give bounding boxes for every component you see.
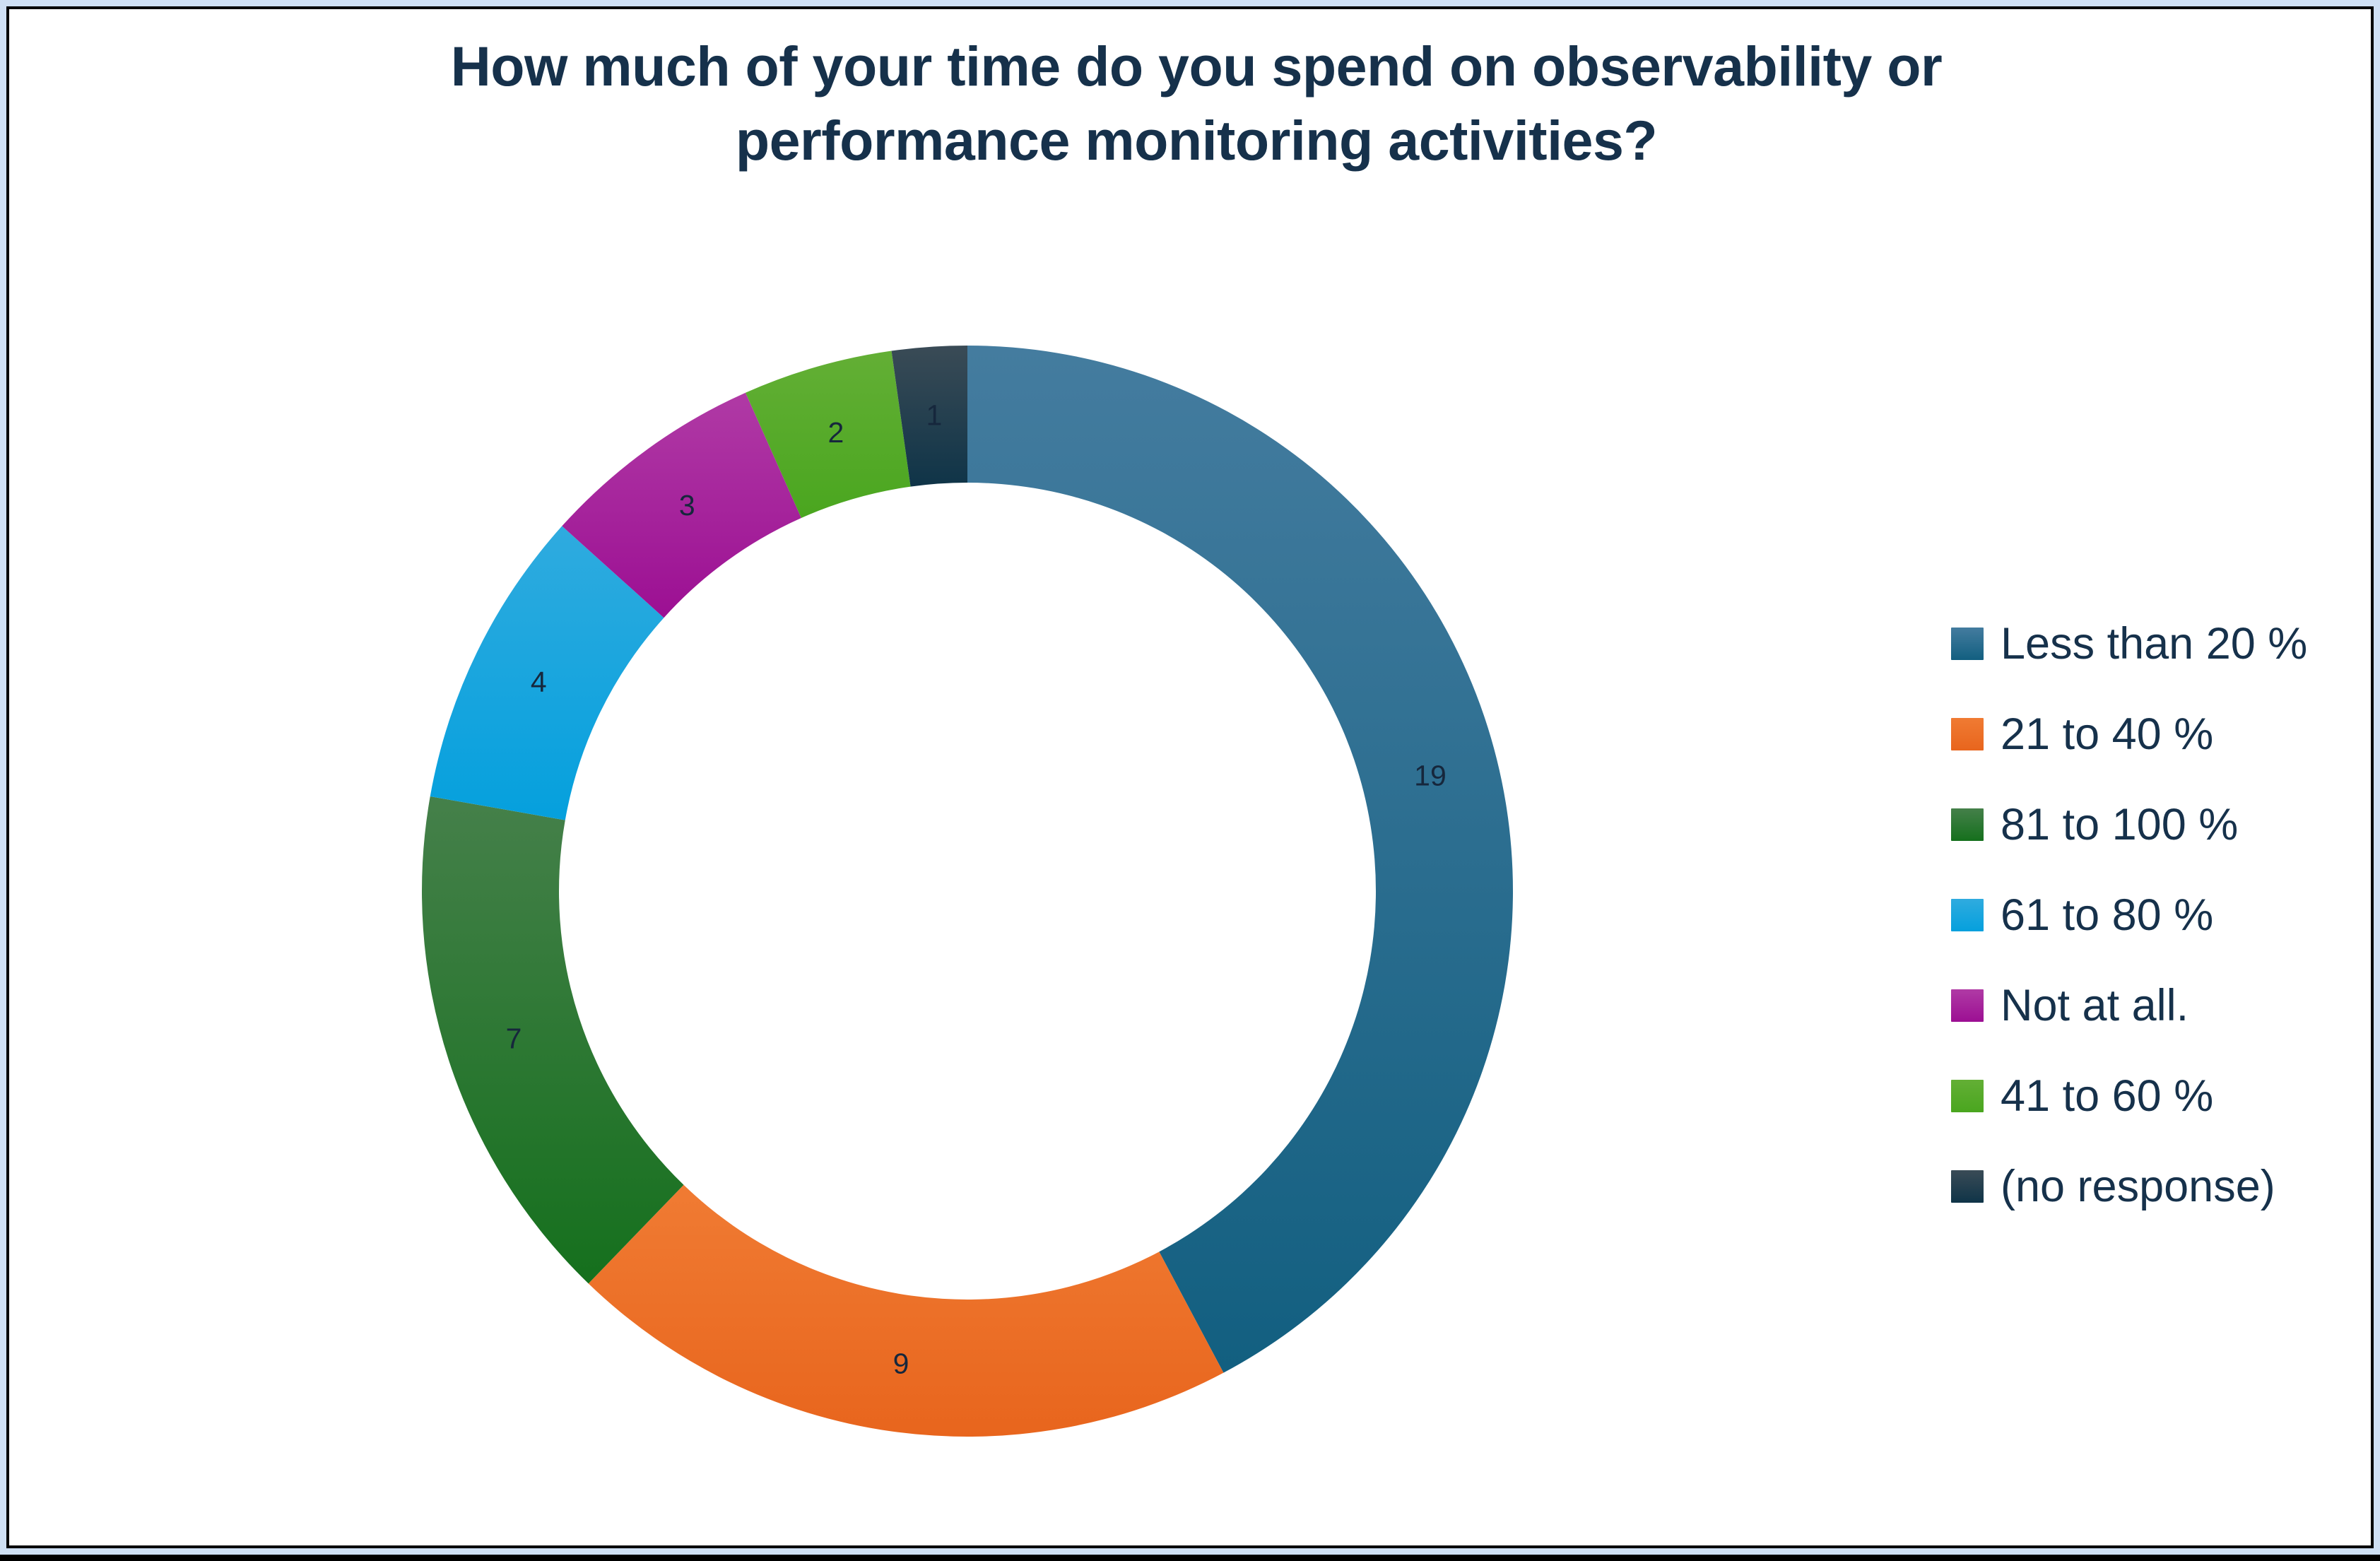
legend-color-swatch [1951,628,1984,660]
donut-slices [422,346,1513,1437]
donut-slice[interactable] [967,346,1513,1373]
legend-item[interactable]: 61 to 80 % [1951,870,2375,960]
legend-item-label: (no response) [2001,1165,2275,1209]
donut-slice[interactable] [422,796,683,1283]
legend-item[interactable]: (no response) [1951,1141,2375,1232]
legend-color-swatch [1951,899,1984,931]
legend-item[interactable]: 21 to 40 % [1951,689,2375,779]
legend-color-swatch [1951,808,1984,841]
legend-item-label: 21 to 40 % [2001,712,2213,757]
legend-item[interactable]: Less than 20 % [1951,599,2375,689]
legend-color-swatch [1951,989,1984,1022]
legend-item-label: 81 to 100 % [2001,803,2238,847]
legend-item-label: Less than 20 % [2001,622,2307,666]
legend-item[interactable]: 81 to 100 % [1951,779,2375,870]
legend-item-label: 61 to 80 % [2001,893,2213,938]
legend-item[interactable]: 41 to 60 % [1951,1051,2375,1141]
legend-color-swatch [1951,718,1984,750]
legend-item-label: 41 to 60 % [2001,1074,2213,1119]
chart-page: How much of your time do you spend on ob… [0,0,2380,1555]
legend-item-label: Not at all. [2001,984,2188,1028]
donut-slice[interactable] [589,1185,1224,1437]
legend-item[interactable]: Not at all. [1951,960,2375,1051]
legend-color-swatch [1951,1080,1984,1112]
legend-color-swatch [1951,1170,1984,1203]
chart-legend: Less than 20 %21 to 40 %81 to 100 %61 to… [1951,599,2375,1232]
